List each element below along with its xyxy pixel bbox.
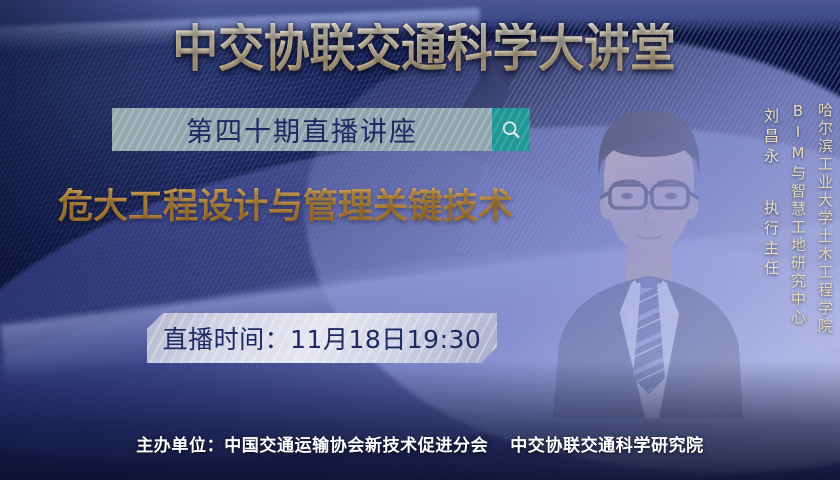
lecture-headline-text: 危大工程设计与管理关键技术	[58, 188, 513, 227]
speaker-research-center: BIM与智慧工地研究中心	[788, 102, 807, 327]
speaker-role: 执行主任	[761, 200, 780, 280]
footer-organizer-1: 中国交通运输协会新技术促进分会	[224, 436, 488, 456]
series-bar: 第四十期直播讲座	[112, 108, 530, 151]
webinar-poster: 中交协联交通科学大讲堂 第四十期直播讲座 危大工程设计与管理关键技术 直播时间：…	[0, 0, 840, 480]
search-icon	[500, 119, 522, 141]
footer-organizers: 主办单位：中国交通运输协会新技术促进分会中交协联交通科学研究院	[0, 431, 840, 456]
speaker-organization: 哈尔滨工业大学土木工程学院	[815, 102, 834, 336]
lecture-headline: 危大工程设计与管理关键技术	[58, 188, 558, 227]
speaker-name: 刘昌永	[761, 108, 780, 168]
broadcast-time-chip: 直播时间：11月18日19:30	[147, 313, 497, 363]
series-label: 第四十期直播讲座	[186, 110, 418, 149]
page-title-text: 中交协联交通科学大讲堂	[172, 23, 675, 75]
background-bottom-shade	[0, 360, 840, 480]
broadcast-time-text: 直播时间：11月18日19:30	[163, 320, 482, 356]
footer-label: 主办单位：	[136, 436, 224, 456]
search-button[interactable]	[492, 108, 530, 151]
page-title: 中交协联交通科学大讲堂	[138, 18, 710, 80]
series-label-field: 第四十期直播讲座	[112, 108, 492, 151]
footer-organizer-2: 中交协联交通科学研究院	[510, 436, 704, 456]
